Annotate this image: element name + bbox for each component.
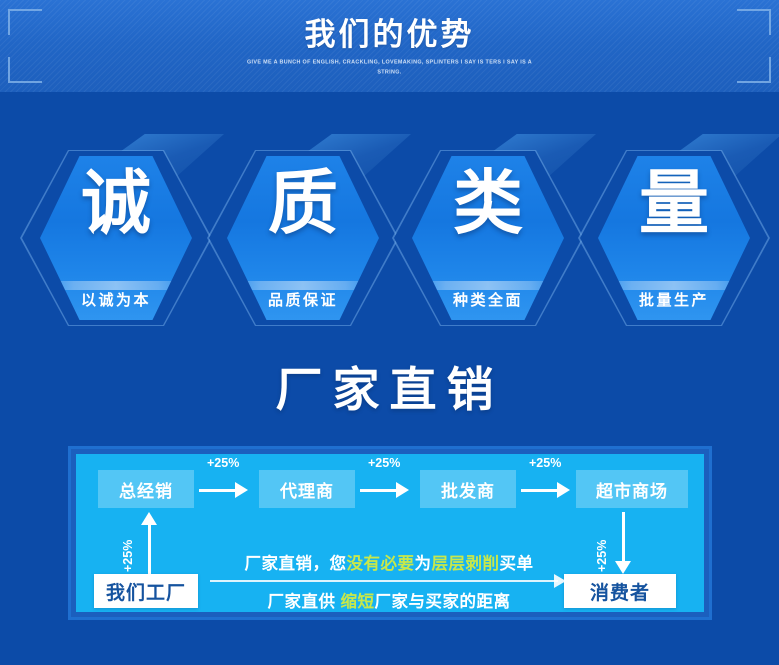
flow-node-general-distributor: 总经销 xyxy=(98,470,194,508)
message-line-2-highlight: 缩短 xyxy=(341,593,375,611)
arrow-right-icon xyxy=(521,478,573,500)
markup-label: +25% xyxy=(207,456,239,470)
message-line-2: 厂家直供 缩短厂家与买家的距离 xyxy=(214,588,564,612)
flow-node-our-factory: 我们工厂 xyxy=(94,574,198,608)
header-banner: 我们的优势 GIVE ME A BUNCH OF ENGLISH, CRACKL… xyxy=(0,0,779,92)
distribution-flow-panel: 总经销 代理商 批发商 超市商场 +25% +25% +25% +25% xyxy=(68,446,712,620)
message-line-2-seg1: 厂家直供 xyxy=(267,593,340,611)
flow-node-agent: 代理商 xyxy=(259,470,355,508)
message-line-1-highlight-1: 没有必要 xyxy=(347,555,415,573)
flow-node-wholesaler: 批发商 xyxy=(420,470,516,508)
advantage-label: 品质保证 xyxy=(205,289,401,310)
arrow-up-icon xyxy=(138,512,160,574)
markup-label-factory: +25% xyxy=(121,540,135,572)
page-title: 我们的优势 xyxy=(305,18,475,53)
markup-label: +25% xyxy=(368,456,400,470)
advantage-card: 质 品质保证 xyxy=(205,132,401,332)
section-title-direct-sales: 厂家直销 xyxy=(0,366,779,413)
advantage-glyph: 诚 xyxy=(18,168,214,238)
page-subtitle: GIVE ME A BUNCH OF ENGLISH, CRACKLING, L… xyxy=(240,59,540,79)
message-line-2-seg3: 厂家与买家的距离 xyxy=(375,593,511,611)
message-line-1-seg5: 买单 xyxy=(500,555,534,573)
markup-label-consumer: +25% xyxy=(595,540,609,572)
advantage-glyph: 类 xyxy=(390,168,586,238)
advantage-label: 种类全面 xyxy=(390,289,586,310)
arrow-right-icon xyxy=(199,478,251,500)
advantage-glyph: 量 xyxy=(576,168,772,238)
message-line-1-seg3: 为 xyxy=(415,555,432,573)
arrow-down-icon xyxy=(612,512,634,574)
flow-node-supermarket: 超市商场 xyxy=(576,470,688,508)
advantage-label: 以诚为本 xyxy=(18,289,214,310)
advantages-row: 诚 以诚为本 质 品质保证 类 种类全面 量 批量生产 xyxy=(0,132,779,332)
markup-label: +25% xyxy=(529,456,561,470)
advantage-card: 诚 以诚为本 xyxy=(18,132,214,332)
message-line-1: 厂家直销，您没有必要为层层剥削买单 xyxy=(214,550,564,574)
flow-node-consumer: 消费者 xyxy=(564,574,676,608)
message-line-1-seg1: 厂家直销，您 xyxy=(245,555,347,573)
message-divider-arrow-icon xyxy=(554,574,566,588)
message-line-1-highlight-2: 层层剥削 xyxy=(432,555,500,573)
advantage-card: 量 批量生产 xyxy=(576,132,772,332)
arrow-right-icon xyxy=(360,478,412,500)
advantage-card: 类 种类全面 xyxy=(390,132,586,332)
message-divider xyxy=(210,580,558,582)
promo-page: 我们的优势 GIVE ME A BUNCH OF ENGLISH, CRACKL… xyxy=(0,0,779,665)
advantage-glyph: 质 xyxy=(205,168,401,238)
advantage-label: 批量生产 xyxy=(576,289,772,310)
